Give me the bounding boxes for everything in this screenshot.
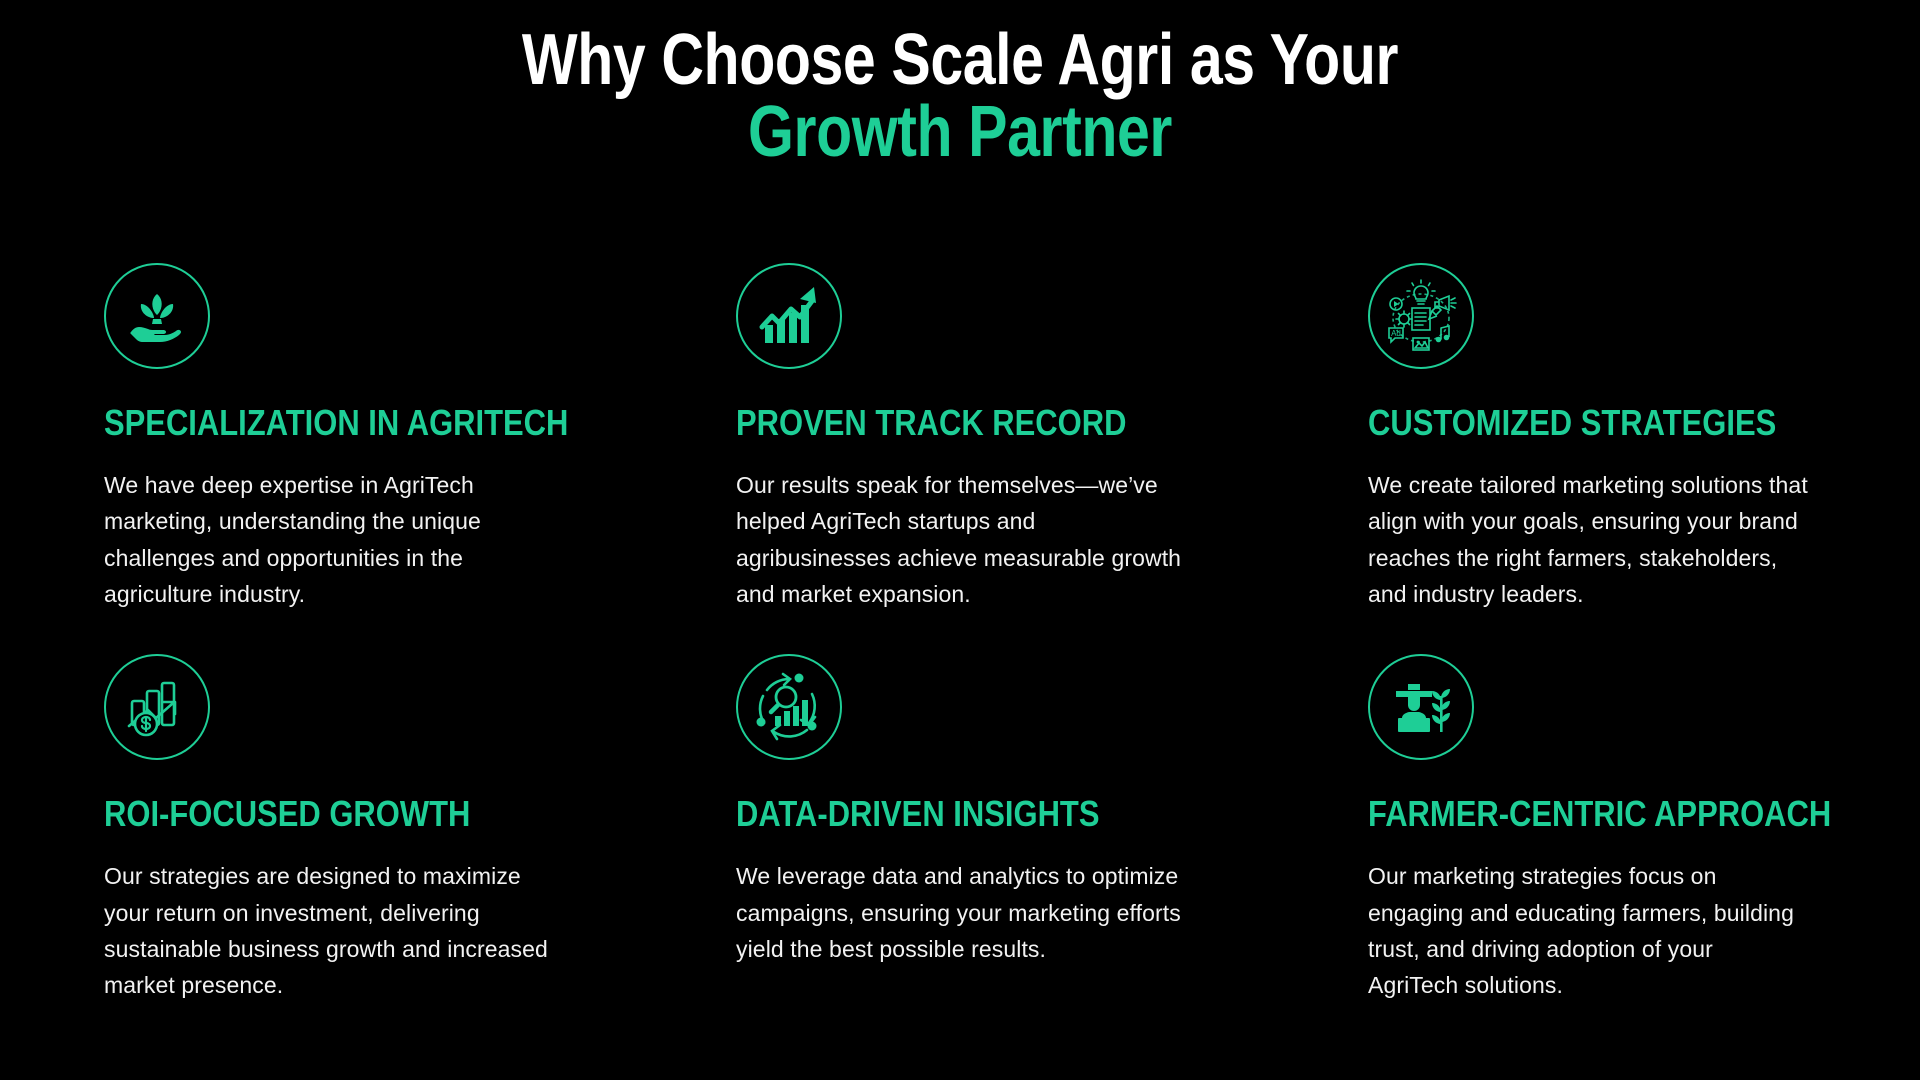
feature-card-body: We create tailored marketing solutions t…: [1368, 467, 1808, 612]
feature-card-specialization: SPECIALIZATION IN AGRITECH We have deep …: [104, 263, 670, 612]
feature-card-body: We leverage data and analytics to optimi…: [736, 858, 1188, 967]
roi-dollar-chart-arrow-icon: [104, 654, 210, 760]
magnifier-analytics-cycle-icon: [736, 654, 842, 760]
farmer-with-plant-icon: [1368, 654, 1474, 760]
hand-holding-plant-icon: [104, 263, 210, 369]
feature-card-body: Our strategies are designed to maximize …: [104, 858, 556, 1003]
feature-card-body: We have deep expertise in AgriTech marke…: [104, 467, 556, 612]
feature-card-title: FARMER-CENTRIC APPROACH: [1368, 796, 1855, 832]
feature-card-title: CUSTOMIZED STRATEGIES: [1368, 405, 1855, 441]
feature-section: Why Choose Scale Agri as Your Growth Par…: [0, 0, 1920, 1080]
growth-bar-chart-arrow-icon: [736, 263, 842, 369]
content-marketing-strategy-icon: Ad: [1368, 263, 1474, 369]
feature-card-body: Our results speak for themselves—we’ve h…: [736, 467, 1188, 612]
svg-text:Ad: Ad: [1391, 329, 1401, 338]
feature-card-title: PROVEN TRACK RECORD: [736, 405, 1223, 441]
feature-card-title: SPECIALIZATION IN AGRITECH: [104, 405, 591, 441]
page-title: Why Choose Scale Agri as Your Growth Par…: [0, 26, 1920, 167]
feature-card-farmer-centric: FARMER-CENTRIC APPROACH Our marketing st…: [1368, 654, 1920, 1003]
feature-card-body: Our marketing strategies focus on engagi…: [1368, 858, 1808, 1003]
feature-card-data-insights: DATA-DRIVEN INSIGHTS We leverage data an…: [736, 654, 1302, 1003]
feature-card-title: DATA-DRIVEN INSIGHTS: [736, 796, 1223, 832]
feature-card-customized-strategies: Ad CUSTOMIZED STRATEGIES We create tailo…: [1368, 263, 1920, 612]
feature-card-title: ROI-FOCUSED GROWTH: [104, 796, 591, 832]
feature-grid: SPECIALIZATION IN AGRITECH We have deep …: [104, 263, 1834, 1004]
page-title-line-2: Growth Partner: [173, 98, 1747, 166]
page-title-line-1: Why Choose Scale Agri as Your: [173, 26, 1747, 98]
feature-card-roi-growth: ROI-FOCUSED GROWTH Our strategies are de…: [104, 654, 670, 1003]
feature-card-track-record: PROVEN TRACK RECORD Our results speak fo…: [736, 263, 1302, 612]
